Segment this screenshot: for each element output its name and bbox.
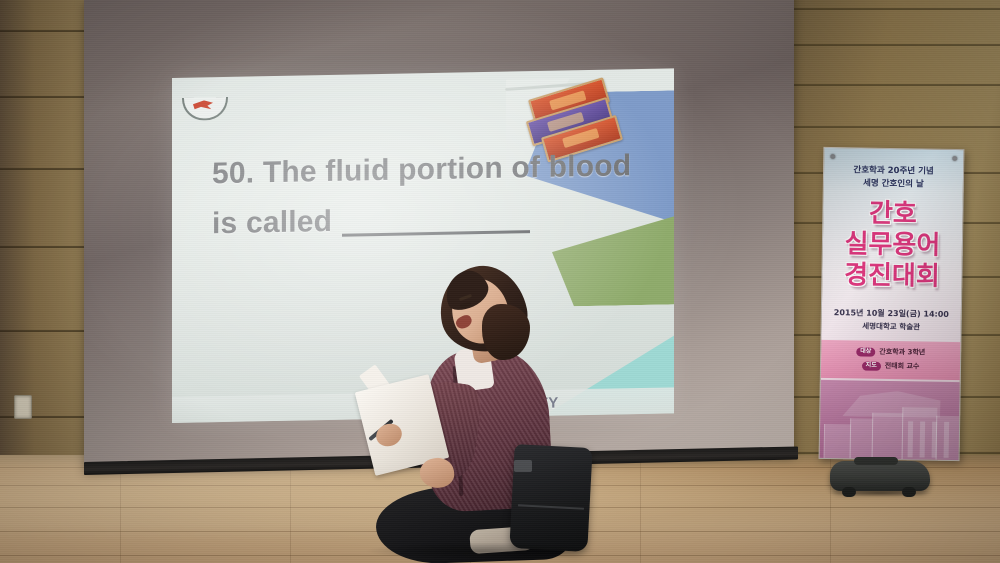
wall-power-outlet [14, 395, 32, 419]
event-banner: 간호학과 20주년 기념 세명 간호인의 날 간호 실무용어 경진대회 2015… [819, 147, 965, 461]
semyung-university-emblem-icon [182, 87, 224, 130]
slide-answer-blank [342, 230, 530, 237]
presenter-person [360, 270, 610, 563]
slide-question-line2-prefix: is called [212, 205, 332, 240]
auditorium-photo: 50. The fluid portion of blood is called… [0, 0, 1000, 563]
floor-vacuum-device [824, 455, 938, 499]
slide-question-line1: 50. The fluid portion of blood [212, 149, 631, 190]
slide-question-line2: is called [212, 191, 642, 249]
slide-question-text: 50. The fluid portion of blood is called [212, 141, 642, 249]
